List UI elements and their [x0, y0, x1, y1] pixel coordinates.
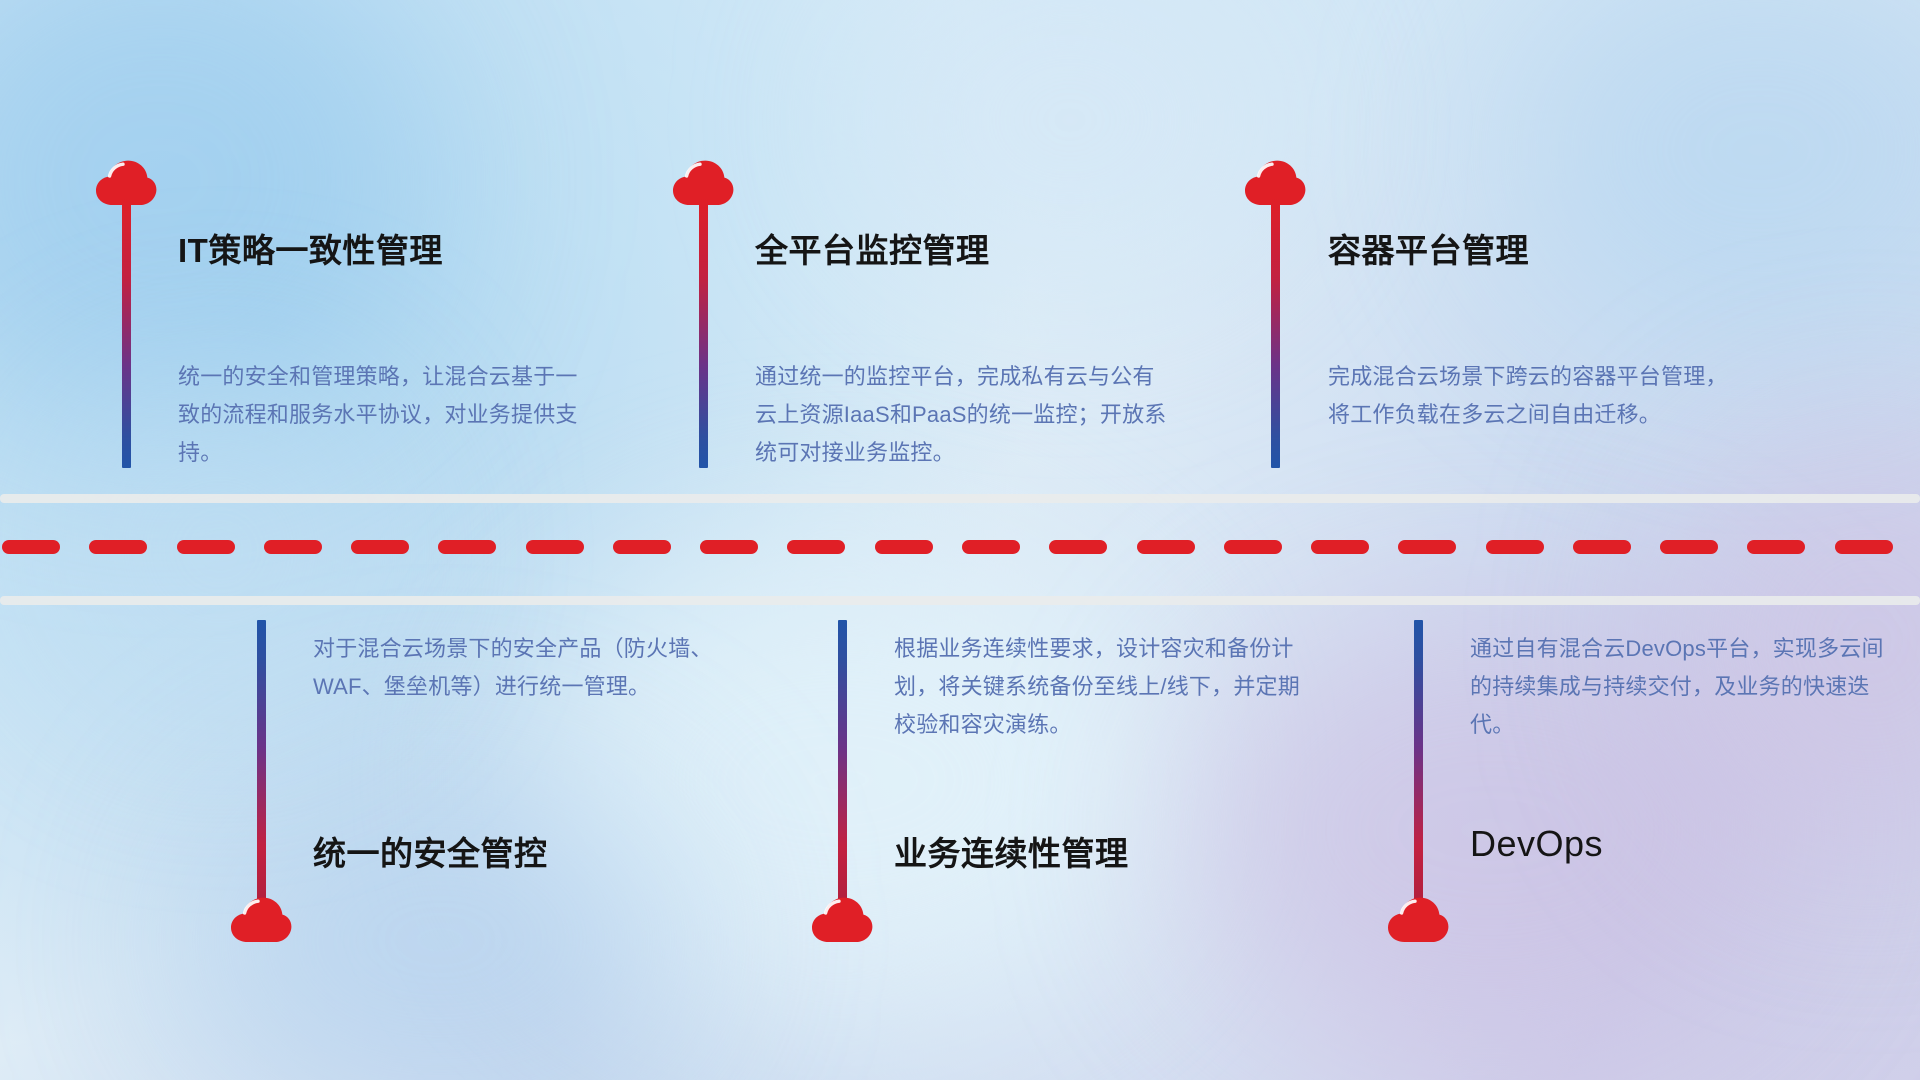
column-description: 完成混合云场景下跨云的容器平台管理，将工作负载在多云之间自由迁移。 — [1328, 358, 1748, 434]
cloud-icon — [230, 897, 292, 943]
separator-dash — [700, 540, 758, 554]
separator-dash — [962, 540, 1020, 554]
separator-dash — [438, 540, 496, 554]
column-title: 全平台监控管理 — [755, 224, 990, 272]
column-description: 统一的安全和管理策略，让混合云基于一致的流程和服务水平协议，对业务提供支持。 — [178, 358, 598, 472]
divider-line-bottom — [0, 596, 1920, 605]
separator-dash — [526, 540, 584, 554]
cloud-icon — [811, 897, 873, 943]
divider-line-top — [0, 494, 1920, 503]
separator-dash — [89, 540, 147, 554]
column-stem — [1414, 620, 1423, 910]
separator-dash — [875, 540, 933, 554]
separator-dash — [787, 540, 845, 554]
separator-dash — [351, 540, 409, 554]
column-description: 对于混合云场景下的安全产品（防火墙、WAF、堡垒机等）进行统一管理。 — [313, 630, 733, 706]
separator-dash — [1049, 540, 1107, 554]
separator-dash — [264, 540, 322, 554]
separator-dash — [613, 540, 671, 554]
separator-dash — [1835, 540, 1893, 554]
separator-dash — [2, 540, 60, 554]
column-description: 通过统一的监控平台，完成私有云与公有云上资源IaaS和PaaS的统一监控；开放系… — [755, 358, 1175, 472]
background-bloom — [1500, 0, 1920, 360]
column-title: IT策略一致性管理 — [178, 224, 443, 272]
separator-dash — [1747, 540, 1805, 554]
column-title: 业务连续性管理 — [894, 827, 1129, 875]
separator-dash — [1224, 540, 1282, 554]
infographic-canvas: IT策略一致性管理 统一的安全和管理策略，让混合云基于一致的流程和服务水平协议，… — [0, 0, 1920, 1080]
separator-dash — [1486, 540, 1544, 554]
separator-dash — [1398, 540, 1456, 554]
column-stem — [838, 620, 847, 910]
column-title: 统一的安全管控 — [313, 827, 548, 875]
column-stem — [699, 198, 708, 468]
column-stem — [122, 198, 131, 468]
column-title: 容器平台管理 — [1328, 224, 1529, 272]
separator-dash — [1660, 540, 1718, 554]
separator-dash — [1311, 540, 1369, 554]
column-description: 根据业务连续性要求，设计容灾和备份计划，将关键系统备份至线上/线下，并定期校验和… — [894, 630, 1314, 744]
cloud-icon — [1387, 897, 1449, 943]
column-title: DevOps — [1470, 823, 1603, 865]
separator-dash — [177, 540, 235, 554]
column-stem — [1271, 198, 1280, 468]
red-dashed-separator — [0, 540, 1920, 554]
column-description: 通过自有混合云DevOps平台，实现多云间的持续集成与持续交付，及业务的快速迭代… — [1470, 630, 1890, 744]
separator-dash — [1573, 540, 1631, 554]
separator-dash — [1137, 540, 1195, 554]
column-stem — [257, 620, 266, 910]
